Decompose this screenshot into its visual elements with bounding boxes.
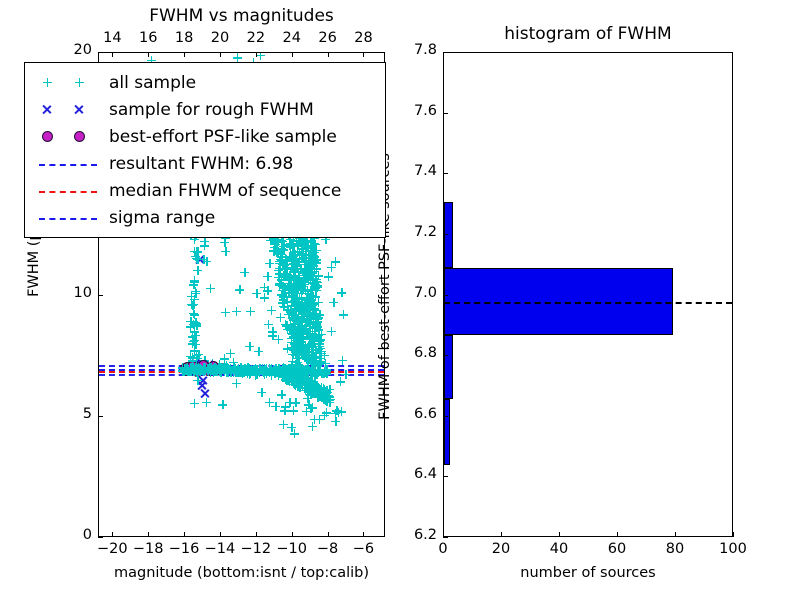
all-sample-point	[277, 291, 286, 300]
all-sample-point	[291, 314, 300, 323]
all-sample-point	[312, 255, 321, 264]
all-sample-point	[295, 250, 304, 259]
all-sample-point	[310, 380, 319, 389]
all-sample-point	[301, 278, 310, 287]
all-sample-point	[277, 275, 286, 284]
scatter-xticklabel: −10	[274, 541, 310, 557]
all-sample-point	[200, 241, 209, 250]
all-sample-point	[307, 389, 316, 398]
all-sample-point	[310, 388, 319, 397]
all-sample-point	[287, 257, 296, 266]
all-sample-point	[299, 269, 308, 278]
all-sample-point	[298, 340, 307, 349]
all-sample-point	[309, 292, 318, 301]
all-sample-point	[190, 340, 199, 349]
all-sample-point	[298, 245, 307, 254]
all-sample-point	[288, 297, 297, 306]
all-sample-point	[306, 356, 315, 365]
all-sample-point	[287, 282, 296, 291]
all-sample-point	[301, 256, 310, 265]
all-sample-point	[287, 334, 296, 343]
all-sample-point	[291, 271, 300, 280]
all-sample-point	[190, 399, 199, 408]
scatter-xticklabel: −8	[310, 541, 346, 557]
all-sample-point	[289, 316, 298, 325]
all-sample-point	[291, 379, 300, 388]
all-sample-point	[281, 255, 290, 264]
all-sample-point	[279, 420, 288, 429]
all-sample-point	[307, 268, 316, 277]
all-sample-point	[315, 392, 324, 401]
all-sample-point	[291, 306, 300, 315]
all-sample-point	[305, 293, 314, 302]
all-sample-point	[293, 346, 302, 355]
all-sample-point	[291, 301, 300, 310]
all-sample-point	[274, 247, 283, 256]
all-sample-point	[271, 237, 280, 246]
all-sample-point	[311, 382, 320, 391]
all-sample-point	[311, 292, 320, 301]
all-sample-point	[294, 271, 303, 280]
all-sample-point	[312, 264, 321, 273]
all-sample-point	[331, 417, 340, 426]
all-sample-point	[287, 338, 296, 347]
all-sample-point	[288, 263, 297, 272]
all-sample-point	[323, 393, 332, 402]
all-sample-point	[290, 310, 299, 319]
all-sample-point	[311, 314, 320, 323]
all-sample-point	[308, 298, 317, 307]
scatter-xticklabel: −16	[166, 541, 202, 557]
all-sample-point	[292, 354, 301, 363]
all-sample-point	[299, 310, 308, 319]
all-sample-point	[312, 246, 321, 255]
all-sample-point	[268, 327, 277, 336]
all-sample-point	[256, 52, 265, 60]
all-sample-point	[304, 381, 313, 390]
all-sample-point	[296, 284, 305, 293]
all-sample-point	[188, 332, 197, 341]
all-sample-point	[285, 240, 294, 249]
histogram-xtick	[733, 532, 734, 537]
all-sample-point	[296, 277, 305, 286]
histogram-xlabel: number of sources	[443, 565, 733, 581]
all-sample-point	[303, 273, 312, 282]
all-sample-point	[291, 325, 300, 334]
all-sample-point	[299, 341, 308, 350]
all-sample-point	[297, 265, 306, 274]
all-sample-point	[308, 298, 317, 307]
all-sample-point	[314, 313, 323, 322]
all-sample-point	[314, 335, 323, 344]
all-sample-point	[305, 384, 314, 393]
all-sample-point	[297, 349, 306, 358]
all-sample-point	[296, 377, 305, 386]
all-sample-point	[310, 304, 319, 313]
all-sample-point	[299, 285, 308, 294]
all-sample-point	[291, 398, 300, 407]
histogram-ytick	[443, 355, 448, 356]
all-sample-point	[324, 392, 333, 401]
all-sample-point	[301, 268, 310, 277]
all-sample-point	[296, 383, 305, 392]
all-sample-point	[281, 402, 290, 411]
all-sample-point	[274, 237, 283, 246]
scatter-xticklabel: −14	[202, 541, 238, 557]
all-sample-point	[304, 263, 313, 272]
all-sample-point	[310, 385, 319, 394]
all-sample-point	[291, 329, 300, 338]
all-sample-point	[301, 242, 310, 251]
all-sample-point	[293, 241, 302, 250]
all-sample-point	[294, 275, 303, 284]
all-sample-point	[303, 315, 312, 324]
legend-handle	[33, 154, 105, 174]
all-sample-point	[313, 383, 322, 392]
all-sample-point	[315, 415, 324, 424]
legend-cross-icon	[74, 105, 84, 115]
all-sample-point	[316, 391, 325, 400]
all-sample-point	[299, 239, 308, 248]
all-sample-point	[304, 259, 313, 268]
legend-handle	[33, 73, 105, 93]
all-sample-point	[296, 301, 305, 310]
all-sample-point	[304, 341, 313, 350]
all-sample-point	[306, 246, 315, 255]
all-sample-point	[306, 390, 315, 399]
all-sample-point	[290, 334, 299, 343]
all-sample-point	[186, 322, 195, 331]
all-sample-point	[279, 242, 288, 251]
legend-label: sample for rough FWHM	[109, 100, 314, 120]
all-sample-point	[321, 393, 330, 402]
all-sample-point	[309, 305, 318, 314]
all-sample-point	[302, 317, 311, 326]
legend-circle-icon	[42, 131, 53, 142]
all-sample-point	[301, 386, 310, 395]
all-sample-point	[232, 379, 241, 388]
all-sample-point	[291, 322, 300, 331]
all-sample-point	[282, 292, 291, 301]
all-sample-point	[305, 250, 314, 259]
all-sample-point	[252, 289, 261, 298]
all-sample-point	[325, 396, 334, 405]
all-sample-point	[285, 252, 294, 261]
all-sample-point	[301, 325, 310, 334]
all-sample-point	[279, 302, 288, 311]
all-sample-point	[320, 411, 329, 420]
all-sample-point	[289, 329, 298, 338]
all-sample-point	[321, 396, 330, 405]
all-sample-point	[291, 348, 300, 357]
all-sample-point	[290, 316, 299, 325]
all-sample-point	[294, 380, 303, 389]
legend-handle	[33, 100, 105, 120]
all-sample-point	[290, 250, 299, 259]
all-sample-point	[276, 252, 285, 261]
all-sample-point	[312, 387, 321, 396]
all-sample-point	[292, 338, 301, 347]
all-sample-point	[305, 384, 314, 393]
all-sample-point	[191, 331, 200, 340]
all-sample-point	[306, 388, 315, 397]
all-sample-point	[190, 327, 199, 336]
scatter-top-xtick	[112, 52, 113, 57]
all-sample-point	[281, 320, 290, 329]
all-sample-point	[309, 312, 318, 321]
all-sample-point	[290, 374, 299, 383]
all-sample-point	[291, 346, 300, 355]
all-sample-point	[316, 391, 325, 400]
all-sample-point	[289, 315, 298, 324]
figure-canvas: FWHM vs magnitudes−20−18−16−14−12−10−8−6…	[0, 0, 800, 600]
all-sample-point	[315, 337, 324, 346]
all-sample-point	[220, 238, 229, 247]
all-sample-point	[306, 381, 315, 390]
histogram-yticklabel: 7.0	[395, 285, 437, 301]
all-sample-point	[291, 261, 300, 270]
all-sample-point	[284, 288, 293, 297]
all-sample-point	[290, 297, 299, 306]
all-sample-point	[293, 354, 302, 363]
all-sample-point	[310, 278, 319, 287]
all-sample-point	[296, 306, 305, 315]
all-sample-point	[295, 258, 304, 267]
legend-item: sample for rough FWHM	[33, 96, 375, 123]
all-sample-point	[280, 283, 289, 292]
all-sample-point	[187, 292, 196, 301]
all-sample-point	[317, 383, 326, 392]
all-sample-point	[310, 381, 319, 390]
all-sample-point	[306, 301, 315, 310]
all-sample-point	[304, 385, 313, 394]
all-sample-point	[320, 393, 329, 402]
all-sample-point	[190, 278, 199, 287]
legend-item: all sample	[33, 69, 375, 96]
all-sample-point	[320, 388, 329, 397]
all-sample-point	[288, 343, 297, 352]
all-sample-point	[294, 239, 303, 248]
all-sample-point	[240, 268, 249, 277]
all-sample-point	[304, 375, 313, 384]
all-sample-point	[308, 279, 317, 288]
all-sample-point	[303, 378, 312, 387]
all-sample-point	[306, 262, 315, 271]
all-sample-point	[275, 259, 284, 268]
all-sample-point	[319, 395, 328, 404]
all-sample-point	[306, 382, 315, 391]
all-sample-point	[190, 346, 199, 355]
all-sample-point	[311, 382, 320, 391]
scatter-ytick	[98, 295, 103, 296]
legend-item: sigma range	[33, 204, 375, 231]
all-sample-point	[306, 382, 315, 391]
all-sample-point	[308, 248, 317, 257]
all-sample-point	[319, 385, 328, 394]
all-sample-point	[319, 386, 328, 395]
all-sample-point	[297, 249, 306, 258]
all-sample-point	[294, 336, 303, 345]
all-sample-point	[299, 282, 308, 291]
all-sample-point	[292, 346, 301, 355]
all-sample-point	[186, 317, 195, 326]
all-sample-point	[310, 323, 319, 332]
all-sample-point	[297, 300, 306, 309]
scatter-xtick	[112, 532, 113, 537]
all-sample-point	[322, 386, 331, 395]
all-sample-point	[296, 317, 305, 326]
all-sample-point	[297, 304, 306, 313]
all-sample-point	[329, 298, 338, 307]
all-sample-point	[287, 292, 296, 301]
all-sample-point	[307, 250, 316, 259]
all-sample-point	[269, 247, 278, 256]
all-sample-point	[303, 384, 312, 393]
all-sample-point	[192, 321, 201, 330]
all-sample-point	[292, 257, 301, 266]
legend-item: resultant FWHM: 6.98	[33, 150, 375, 177]
all-sample-point	[311, 384, 320, 393]
all-sample-point	[286, 239, 295, 248]
all-sample-point	[295, 334, 304, 343]
histogram-yticklabel: 6.2	[395, 527, 437, 543]
all-sample-point	[307, 387, 316, 396]
all-sample-point	[308, 260, 317, 269]
all-sample-point	[279, 283, 288, 292]
all-sample-point	[324, 392, 333, 401]
all-sample-point	[307, 262, 316, 271]
all-sample-point	[290, 332, 299, 341]
all-sample-point	[297, 342, 306, 351]
all-sample-point	[303, 274, 312, 283]
scatter-top-xtick	[292, 52, 293, 57]
histogram-xtick	[675, 532, 676, 537]
histogram-xticklabel: 80	[655, 541, 695, 557]
all-sample-point	[189, 300, 198, 309]
all-sample-point	[310, 239, 319, 248]
all-sample-point	[313, 281, 322, 290]
all-sample-point	[265, 398, 274, 407]
all-sample-point	[304, 387, 313, 396]
all-sample-point	[291, 302, 300, 311]
all-sample-point	[288, 288, 297, 297]
histogram-ytick	[443, 113, 448, 114]
all-sample-point	[301, 318, 310, 327]
all-sample-point	[265, 259, 274, 268]
all-sample-point	[310, 339, 319, 348]
all-sample-point	[289, 251, 298, 260]
all-sample-point	[302, 257, 311, 266]
all-sample-point	[290, 329, 299, 338]
all-sample-point	[272, 247, 281, 256]
all-sample-point	[304, 293, 313, 302]
all-sample-point	[306, 286, 315, 295]
scatter-xlabel: magnitude (bottom:isnt / top:calib)	[98, 565, 385, 581]
all-sample-point	[319, 392, 328, 401]
all-sample-point	[294, 322, 303, 331]
all-sample-point	[309, 254, 318, 263]
all-sample-point	[312, 275, 321, 284]
all-sample-point	[189, 309, 198, 318]
all-sample-point	[292, 289, 301, 298]
all-sample-point	[300, 324, 309, 333]
all-sample-point	[200, 237, 209, 246]
histogram-xticklabel: 60	[597, 541, 637, 557]
all-sample-point	[192, 321, 201, 330]
legend-handle	[33, 208, 105, 228]
all-sample-point	[271, 246, 280, 255]
all-sample-point	[311, 275, 320, 284]
all-sample-point	[307, 352, 316, 361]
all-sample-point	[278, 298, 287, 307]
all-sample-point	[310, 256, 319, 265]
all-sample-point	[293, 258, 302, 267]
all-sample-point	[292, 375, 301, 384]
all-sample-point	[310, 248, 319, 257]
all-sample-point	[288, 357, 297, 366]
all-sample-point	[298, 244, 307, 253]
all-sample-point	[304, 330, 313, 339]
all-sample-point	[275, 279, 284, 288]
all-sample-point	[301, 349, 310, 358]
all-sample-point	[311, 388, 320, 397]
all-sample-point	[187, 300, 196, 309]
all-sample-point	[305, 320, 314, 329]
all-sample-point	[305, 345, 314, 354]
all-sample-point	[310, 339, 319, 348]
all-sample-point	[309, 310, 318, 319]
all-sample-point	[304, 300, 313, 309]
all-sample-point	[309, 306, 318, 315]
all-sample-point	[301, 386, 310, 395]
all-sample-point	[308, 301, 317, 310]
all-sample-point	[291, 377, 300, 386]
all-sample-point	[299, 375, 308, 384]
all-sample-point	[284, 281, 293, 290]
all-sample-point	[309, 261, 318, 270]
all-sample-point	[297, 254, 306, 263]
all-sample-point	[313, 283, 322, 292]
all-sample-point	[305, 309, 314, 318]
all-sample-point	[307, 285, 316, 294]
all-sample-point	[291, 330, 300, 339]
histogram-axes	[443, 52, 733, 537]
all-sample-point	[317, 387, 326, 396]
all-sample-point	[308, 342, 317, 351]
scatter-top-xticklabel: 24	[276, 30, 308, 46]
all-sample-point	[289, 406, 298, 415]
all-sample-point	[291, 300, 300, 309]
legend-handle	[33, 127, 105, 147]
all-sample-point	[308, 310, 317, 319]
all-sample-point	[299, 245, 308, 254]
all-sample-point	[314, 386, 323, 395]
all-sample-point	[297, 340, 306, 349]
all-sample-point	[281, 375, 290, 384]
scatter-top-xtick	[256, 52, 257, 57]
all-sample-point	[267, 306, 276, 315]
all-sample-point	[307, 251, 316, 260]
all-sample-point	[274, 266, 283, 275]
all-sample-point	[316, 344, 325, 353]
all-sample-point	[276, 249, 285, 258]
all-sample-point	[290, 339, 299, 348]
all-sample-point	[302, 274, 311, 283]
all-sample-point	[289, 280, 298, 289]
all-sample-point	[315, 360, 324, 369]
all-sample-point	[285, 398, 294, 407]
all-sample-point	[295, 350, 304, 359]
